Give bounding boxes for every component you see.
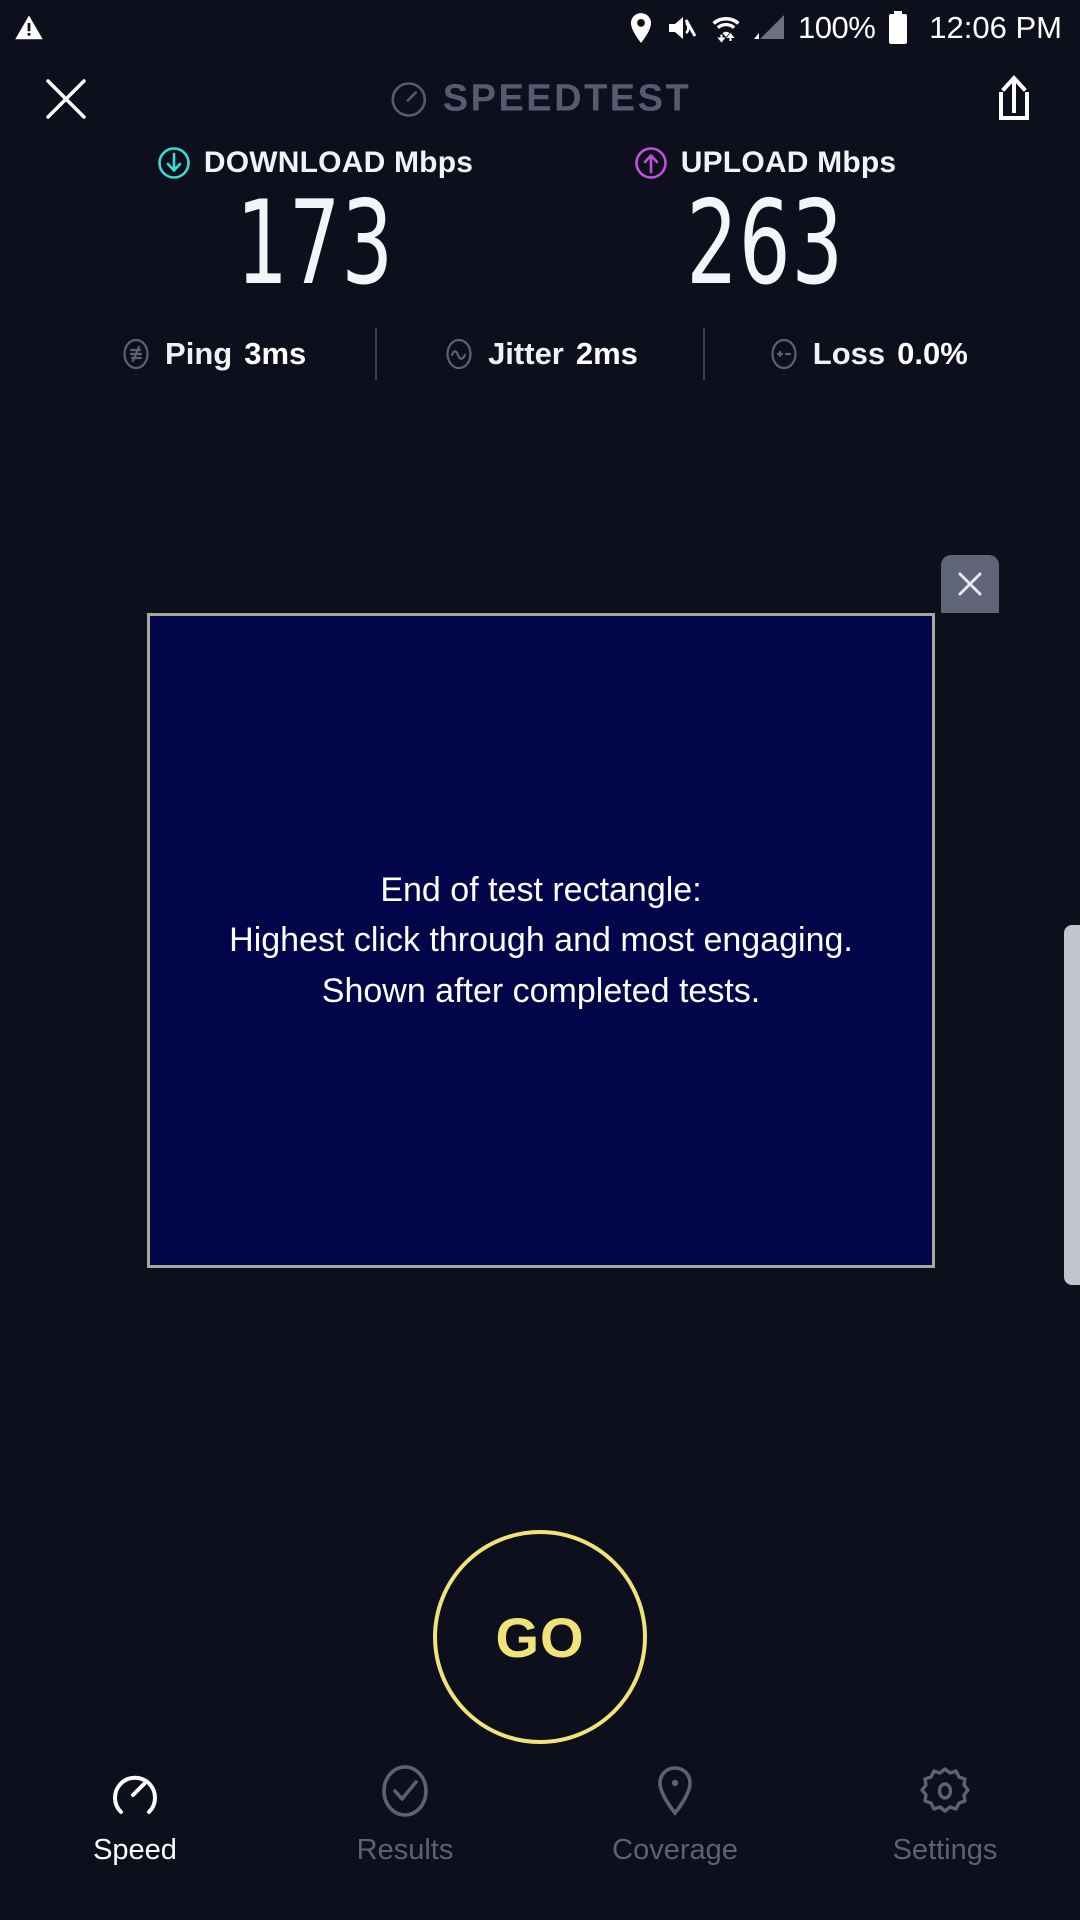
ad-line-3: Shown after completed tests. <box>229 966 853 1016</box>
battery-percent-label: 100% <box>798 10 875 46</box>
loss-label: Loss <box>813 336 885 372</box>
download-arrow-icon <box>157 146 191 180</box>
download-label-row: DOWNLOAD Mbps <box>157 146 473 180</box>
ping-value: 3ms <box>244 336 306 372</box>
warning-triangle-icon <box>14 13 44 43</box>
share-button[interactable] <box>986 69 1042 129</box>
close-button[interactable] <box>38 71 94 127</box>
download-value: 173 <box>236 186 394 302</box>
loss-value: 0.0% <box>897 336 968 372</box>
ad-close-button[interactable] <box>941 555 999 613</box>
download-label: DOWNLOAD Mbps <box>204 146 473 180</box>
upload-result: UPLOAD Mbps 263 <box>540 146 990 302</box>
jitter-label: Jitter <box>488 336 564 372</box>
loss-icon <box>767 337 801 371</box>
ad-text: End of test rectangle: Highest click thr… <box>229 865 853 1016</box>
gear-icon <box>916 1762 974 1820</box>
upload-value: 263 <box>686 186 844 302</box>
go-button-label: GO <box>495 1605 584 1670</box>
map-pin-icon <box>646 1762 704 1820</box>
cellular-signal-icon <box>754 13 786 43</box>
check-circle-icon <box>376 1762 434 1820</box>
wifi-icon <box>710 12 742 44</box>
nav-item-results[interactable]: Results <box>270 1762 540 1867</box>
metric-loss: Loss 0.0% <box>705 336 1030 372</box>
nav-item-coverage[interactable]: Coverage <box>540 1762 810 1867</box>
status-bar-right-icons: 100% 12:06 PM <box>628 10 1062 46</box>
metric-jitter: Jitter 2ms <box>377 336 702 372</box>
nav-item-settings[interactable]: Settings <box>810 1762 1080 1867</box>
ping-icon <box>119 337 153 371</box>
volume-muted-icon <box>666 13 698 43</box>
speedometer-icon <box>389 79 429 119</box>
status-bar-left-icons <box>14 13 44 43</box>
status-bar-clock: 12:06 PM <box>929 10 1062 46</box>
speedtest-app-screen: 100% 12:06 PM SP <box>0 0 1080 1920</box>
download-result: DOWNLOAD Mbps 173 <box>90 146 540 302</box>
speeds-row: DOWNLOAD Mbps 173 UPLOAD Mbps 263 <box>0 142 1080 302</box>
jitter-icon <box>442 337 476 371</box>
upload-label: UPLOAD Mbps <box>681 146 897 180</box>
app-brand: SPEEDTEST <box>389 78 691 121</box>
ad-line-2: Highest click through and most engaging. <box>229 915 853 965</box>
advertisement-banner[interactable]: End of test rectangle: Highest click thr… <box>147 613 935 1268</box>
test-results-panel: DOWNLOAD Mbps 173 UPLOAD Mbps 263 <box>0 142 1080 380</box>
location-pin-icon <box>628 12 654 44</box>
jitter-value: 2ms <box>576 336 638 372</box>
metric-ping: Ping 3ms <box>50 336 375 372</box>
connection-metrics-row: Ping 3ms Jitter 2ms <box>0 328 1080 380</box>
app-title: SPEEDTEST <box>443 78 691 121</box>
ad-line-1: End of test rectangle: <box>229 865 853 915</box>
nav-item-speed[interactable]: Speed <box>0 1762 270 1867</box>
bottom-navigation-bar: Speed Results Coverage <box>0 1748 1080 1920</box>
nav-label-settings: Settings <box>893 1834 998 1867</box>
nav-label-coverage: Coverage <box>612 1834 738 1867</box>
go-button[interactable]: GO <box>433 1530 647 1744</box>
ping-label: Ping <box>165 336 232 372</box>
upload-arrow-icon <box>634 146 668 180</box>
speedometer-icon <box>106 1762 164 1820</box>
system-status-bar: 100% 12:06 PM <box>0 0 1080 56</box>
advertisement-container: End of test rectangle: Highest click thr… <box>147 613 935 1268</box>
app-header: SPEEDTEST <box>0 56 1080 142</box>
upload-label-row: UPLOAD Mbps <box>634 146 897 180</box>
battery-full-icon <box>887 11 909 45</box>
nav-label-speed: Speed <box>93 1834 177 1867</box>
nav-label-results: Results <box>357 1834 454 1867</box>
page-scrollbar[interactable] <box>1064 925 1080 1285</box>
